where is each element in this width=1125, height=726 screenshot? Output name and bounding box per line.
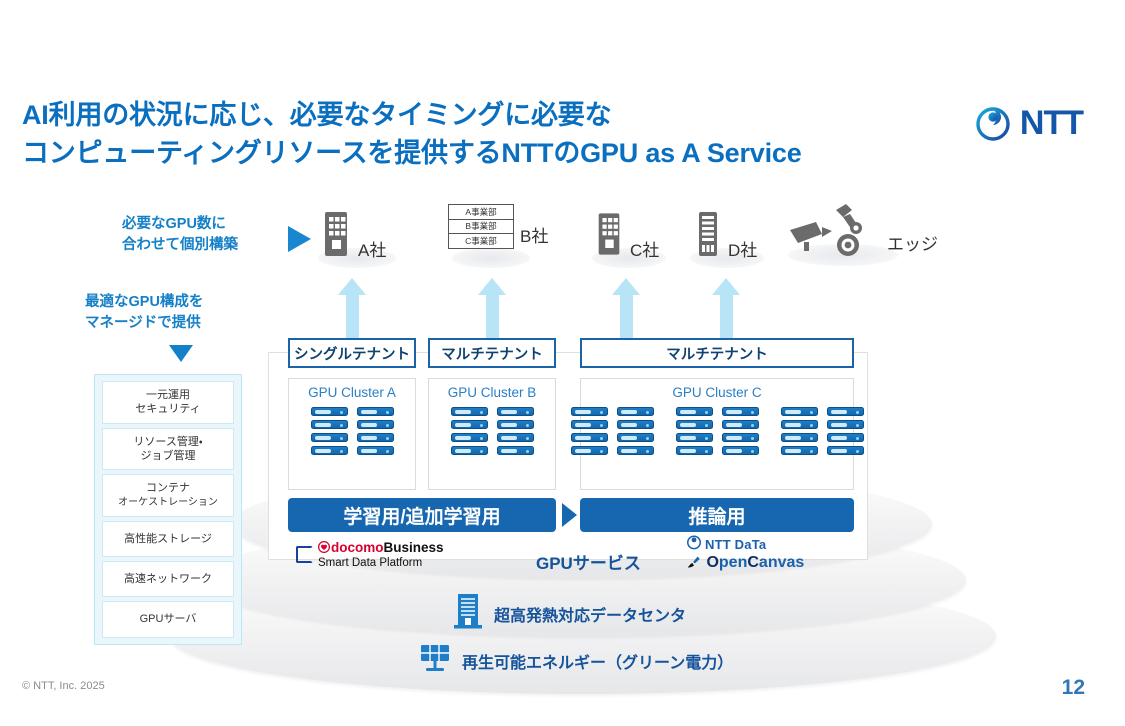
- flow-arrow-up: [712, 278, 740, 339]
- gpu-node: [676, 446, 713, 455]
- callout-managed-line2: マネージドで提供: [85, 315, 201, 331]
- gpu-node: [451, 407, 488, 416]
- office-building-icon: [594, 208, 624, 263]
- sdpf-square-icon: [296, 546, 313, 563]
- gpu-node: [357, 407, 394, 416]
- division-item: A事業部: [449, 205, 513, 220]
- gpu-node: [617, 433, 654, 442]
- server-rack-icon: [694, 208, 722, 263]
- gpu-node: [781, 433, 818, 442]
- gpu-node: [781, 407, 818, 416]
- company-b: A事業部 B事業部 C事業部 B社: [448, 204, 548, 249]
- company-c: C社: [594, 208, 659, 263]
- usage-flow-arrow-icon: [562, 503, 577, 527]
- company-edge-label: エッジ: [887, 236, 938, 263]
- usage-bar-training: 学習用/追加学習用: [288, 498, 556, 532]
- gpu-cluster-a-label: GPU Cluster A: [289, 385, 415, 400]
- copyright-text: © NTT, Inc. 2025: [22, 680, 105, 692]
- slide-canvas: AI利用の状況に応じ、必要なタイミングに必要な コンピューティングリソースを提供…: [0, 0, 1125, 726]
- company-c-label: C社: [630, 242, 659, 263]
- callout-managed: 最適なGPU構成を マネージドで提供: [85, 292, 203, 334]
- gpu-node: [357, 446, 394, 455]
- gpu-node: [311, 420, 348, 429]
- nttdata-opencanvas-logo: NTT DaTa OpenCanvas: [686, 534, 804, 572]
- feature-item-storage: 高性能ストレージ: [102, 521, 234, 557]
- divisions-stack-icon: A事業部 B事業部 C事業部: [448, 204, 514, 249]
- gpu-node: [827, 420, 864, 429]
- opencanvas-c: C: [747, 554, 759, 571]
- feature-item-unified-ops: 一元運用 セキュリティ: [102, 381, 234, 424]
- callout-individual-build: 必要なGPU数に 合わせて個別構築: [122, 214, 238, 256]
- gpu-node: [451, 446, 488, 455]
- gpu-node: [722, 446, 759, 455]
- foundation-datacenter: 超高発熱対応データセンタ: [452, 592, 686, 635]
- gpu-node: [827, 407, 864, 416]
- office-building-icon: [320, 208, 352, 263]
- gpu-node: [617, 407, 654, 416]
- ntt-eye-mark-icon: [973, 103, 1013, 143]
- gpu-node: [451, 420, 488, 429]
- gpu-cluster-a: GPU Cluster A: [288, 378, 416, 490]
- division-item: C事業部: [449, 234, 513, 248]
- callout-individual-line1: 必要なGPU数に: [122, 216, 226, 232]
- callout-managed-line1: 最適なGPU構成を: [85, 294, 203, 310]
- gpu-node: [617, 446, 654, 455]
- company-a-label: A社: [358, 242, 386, 263]
- gpu-node: [617, 420, 654, 429]
- feature-item-resource-job: リソース管理・ ジョブ管理: [102, 428, 234, 471]
- gpu-node: [571, 420, 608, 429]
- foundation-energy-label: 再生可能エネルギー（グリーン電力）: [462, 649, 733, 673]
- triangle-down-icon: [169, 345, 193, 362]
- gpu-node: [781, 446, 818, 455]
- foundation-datacenter-label: 超高発熱対応データセンタ: [494, 602, 686, 626]
- flow-arrow-up: [612, 278, 640, 339]
- gpu-node: [676, 407, 713, 416]
- gpu-node: [722, 420, 759, 429]
- gpu-service-label: GPUサービス: [536, 549, 641, 574]
- solar-panel-icon: [418, 642, 452, 679]
- opencanvas-o: O: [706, 554, 718, 571]
- gpu-node: [571, 433, 608, 442]
- gpu-node: [311, 446, 348, 455]
- title-line-1: AI利用の状況に応じ、必要なタイミングに必要な: [22, 100, 611, 130]
- gpu-node: [571, 446, 608, 455]
- feature-item-network: 高速ネットワーク: [102, 561, 234, 597]
- gpu-node: [722, 407, 759, 416]
- tenant-header-multi-b: マルチテナント: [428, 338, 556, 368]
- company-shadow: [452, 248, 530, 268]
- opencanvas-brush-icon: [686, 554, 706, 571]
- ntt-logo: NTT: [973, 103, 1083, 143]
- company-d: D社: [694, 208, 757, 263]
- gpu-node: [497, 407, 534, 416]
- gpu-node: [311, 407, 348, 416]
- gpu-node: [311, 433, 348, 442]
- feature-item-gpu-server: GPUサーバ: [102, 601, 234, 637]
- gpu-cluster-b: GPU Cluster B: [428, 378, 556, 490]
- gpu-node-grid: [581, 407, 853, 455]
- company-edge: エッジ: [786, 200, 938, 263]
- gpu-node: [722, 433, 759, 442]
- opencanvas-anvas: anvas: [759, 554, 804, 571]
- nttdata-eye-mark-icon: [686, 534, 702, 555]
- sdpf-label: Smart Data Platform: [318, 557, 444, 570]
- gpu-node: [676, 420, 713, 429]
- gpu-node: [357, 433, 394, 442]
- gpu-cluster-c: GPU Cluster C: [580, 378, 854, 490]
- gpu-node: [827, 433, 864, 442]
- datacenter-building-icon: [452, 592, 484, 635]
- docomo-wordmark: docomo: [331, 540, 384, 555]
- edge-devices-icon: [786, 200, 881, 263]
- callout-individual-line2: 合わせて個別構築: [122, 237, 238, 253]
- division-item: B事業部: [449, 220, 513, 235]
- opencanvas-pen: pen: [719, 554, 747, 571]
- managed-feature-stack: 一元運用 セキュリティ リソース管理・ ジョブ管理 コンテナ オーケストレーショ…: [94, 374, 242, 645]
- gpu-node-grid: [289, 407, 415, 455]
- flow-arrow-up: [338, 278, 366, 339]
- gpu-node: [451, 433, 488, 442]
- gpu-node: [781, 420, 818, 429]
- gpu-node-grid: [429, 407, 555, 455]
- flow-arrow-up: [478, 278, 506, 339]
- company-a: A社: [320, 208, 386, 263]
- business-wordmark: Business: [384, 540, 444, 555]
- feature-item-container-orchestration: コンテナ オーケストレーション: [102, 474, 234, 517]
- gpu-cluster-c-label: GPU Cluster C: [581, 385, 853, 400]
- gpu-node: [497, 446, 534, 455]
- page-number: 12: [1062, 676, 1085, 700]
- foundation-energy: 再生可能エネルギー（グリーン電力）: [418, 642, 733, 679]
- triangle-right-icon: [288, 226, 311, 252]
- usage-bar-inference: 推論用: [580, 498, 854, 532]
- tenant-header-single: シングルテナント: [288, 338, 416, 368]
- gpu-node: [497, 433, 534, 442]
- tenant-header-multi-c: マルチテナント: [580, 338, 854, 368]
- title-line-2: コンピューティングリソースを提供するNTTのGPU as A Service: [22, 134, 962, 172]
- gpu-node: [571, 407, 608, 416]
- company-d-label: D社: [728, 242, 757, 263]
- gpu-cluster-b-label: GPU Cluster B: [429, 385, 555, 400]
- docomo-heart-icon: [318, 541, 330, 553]
- ntt-logo-text: NTT: [1020, 106, 1083, 140]
- gpu-node: [676, 433, 713, 442]
- company-b-label: B社: [520, 228, 548, 249]
- gpu-node: [357, 420, 394, 429]
- docomo-business-logo: docomoBusiness Smart Data Platform: [296, 539, 444, 570]
- nttdata-wordmark: NTT DaTa: [705, 537, 766, 552]
- page-title: AI利用の状況に応じ、必要なタイミングに必要な コンピューティングリソースを提供…: [22, 96, 962, 173]
- gpu-node: [497, 420, 534, 429]
- gpu-node: [827, 446, 864, 455]
